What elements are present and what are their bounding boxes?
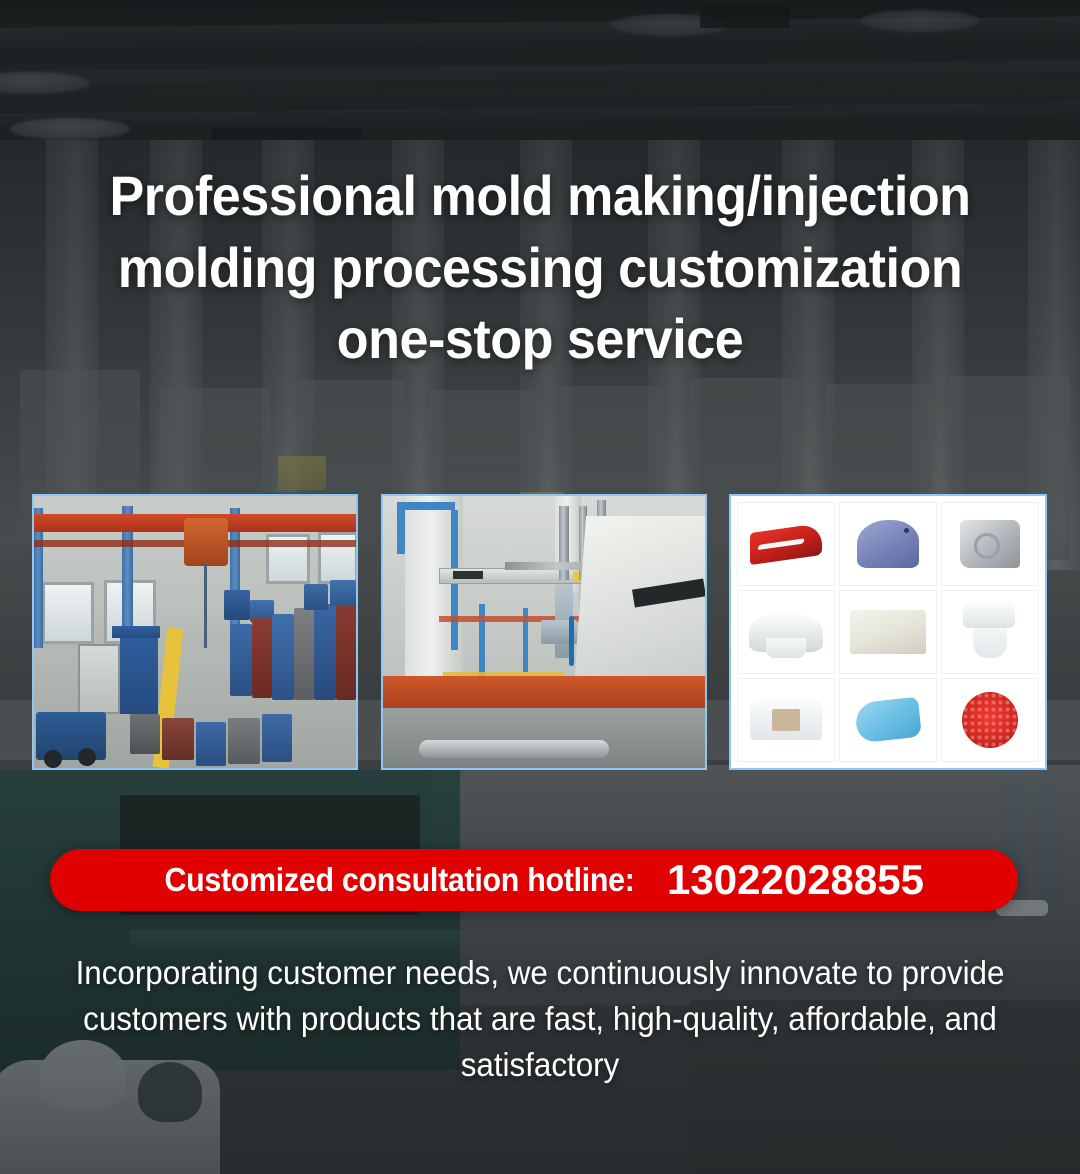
product-cell-light-blue-angled-part[interactable] [839,678,937,762]
tagline-text: Incorporating customer needs, we continu… [56,950,1025,1089]
beige-rectangular-enclosure-part [850,610,926,654]
photo-mold-storage-workshop[interactable] [32,494,358,770]
white-round-vent-base-part [749,612,823,652]
white-panel-with-cutouts-part [750,700,822,740]
product-cell-white-round-vent-base[interactable] [737,590,835,674]
product-cell-grey-metallic-mold-part[interactable] [941,502,1039,586]
hotline-phone-number[interactable]: 13022028855 [667,856,924,904]
promotional-banner: Professional mold making/injection moldi… [0,0,1080,1174]
banner-content: Professional mold making/injection moldi… [0,0,1080,1174]
product-cell-red-perforated-disc[interactable] [941,678,1039,762]
product-cell-red-automotive-trim[interactable] [737,502,835,586]
red-automotive-trim-part [750,523,822,565]
product-cell-white-panel-with-cutouts[interactable] [737,678,835,762]
light-blue-angled-part [854,697,922,743]
grey-metallic-mold-part [960,520,1020,568]
white-handheld-device-part [973,606,1007,658]
product-cell-beige-rectangular-enclosure[interactable] [839,590,937,674]
product-cell-white-handheld-device[interactable] [941,590,1039,674]
hotline-label: Customized consultation hotline: [164,861,634,899]
photo-injection-molding-machine[interactable] [381,494,707,770]
red-perforated-disc-part [962,692,1018,748]
page-title: Professional mold making/injection moldi… [38,160,1042,375]
blue-grey-housing-part [857,520,919,568]
photo-product-samples-grid[interactable] [729,494,1047,770]
hotline-banner[interactable]: Customized consultation hotline: 1302202… [50,849,1018,911]
product-cell-blue-grey-housing[interactable] [839,502,937,586]
photo-gallery [0,494,1080,770]
